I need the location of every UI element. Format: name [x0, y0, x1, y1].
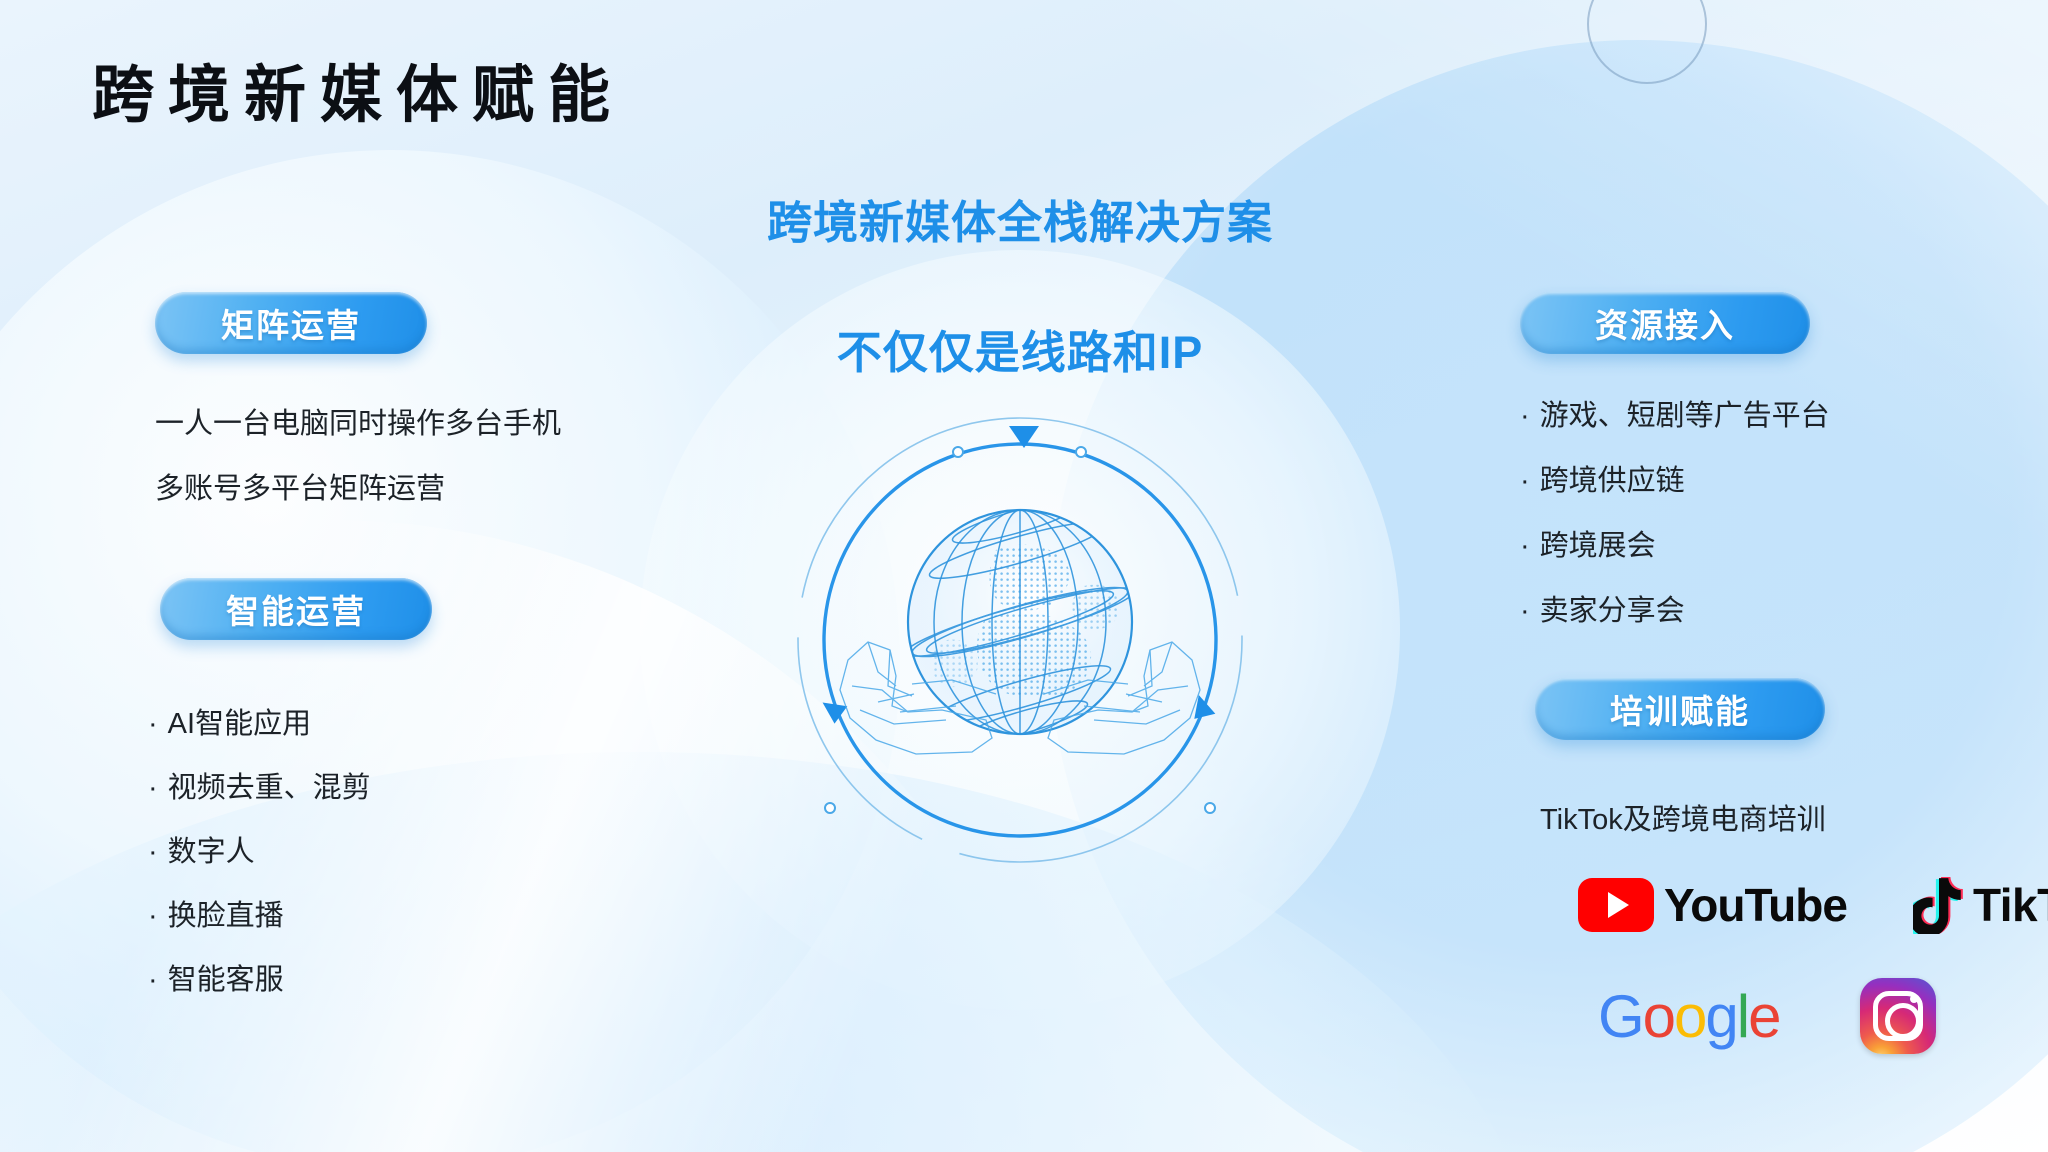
- bullet-dot: ·: [1520, 530, 1530, 563]
- youtube-logo[interactable]: YouTube: [1578, 878, 1847, 932]
- list-item: ·卖家分享会: [1520, 587, 1685, 629]
- bullet-dot: ·: [148, 900, 158, 933]
- tiktok-wordmark: TikTok: [1973, 878, 2048, 932]
- list-item-label: 游戏、短剧等广告平台: [1540, 400, 1830, 432]
- google-letter-o1: o: [1643, 983, 1674, 1050]
- list-item: ·跨境展会: [1520, 522, 1656, 564]
- list-item-label: 卖家分享会: [1540, 595, 1685, 627]
- center-heading-secondary: 不仅仅是线路和IP: [620, 316, 1420, 381]
- list-item: ·视频去重、混剪: [148, 764, 371, 806]
- list-item: ·换脸直播: [148, 892, 284, 934]
- list-item-label: 换脸直播: [168, 900, 284, 932]
- google-letter-g2: g: [1705, 983, 1736, 1050]
- youtube-play-icon: [1578, 878, 1654, 932]
- logo-row-secondary: Google: [1598, 978, 1936, 1054]
- page-title: 跨境新媒体赋能: [92, 44, 624, 134]
- google-logo[interactable]: Google: [1598, 982, 1780, 1051]
- instagram-logo[interactable]: [1860, 978, 1936, 1054]
- youtube-wordmark: YouTube: [1664, 878, 1847, 932]
- pill-training-empowerment[interactable]: 培训赋能: [1535, 678, 1825, 740]
- list-item-label: 数字人: [168, 836, 255, 868]
- pill-label: 智能运营: [226, 585, 366, 633]
- pill-label: 培训赋能: [1610, 685, 1750, 733]
- list-item-label: AI智能应用: [168, 708, 311, 740]
- google-letter-o2: o: [1674, 983, 1705, 1050]
- bullet-dot: ·: [1520, 465, 1530, 498]
- bullet-dot: ·: [148, 772, 158, 805]
- globe-svg: [790, 410, 1250, 870]
- google-letter-g1: G: [1598, 983, 1643, 1050]
- list-item-label: 智能客服: [168, 964, 284, 996]
- pill-smart-operations[interactable]: 智能运营: [160, 578, 432, 640]
- decorative-circle-outline: [1587, 0, 1707, 84]
- list-item-label: 跨境展会: [1540, 530, 1656, 562]
- pill-label: 矩阵运营: [221, 299, 361, 347]
- tiktok-note-icon: [1913, 876, 1965, 934]
- list-item: ·数字人: [148, 828, 255, 870]
- right-text-line-1: TikTok及跨境电商培训: [1540, 796, 1826, 838]
- left-text-line-2: 多账号多平台矩阵运营: [155, 465, 445, 507]
- globe-in-hands-illustration: [790, 410, 1250, 870]
- tiktok-logo[interactable]: TikTok: [1913, 876, 2048, 934]
- background-blob-left: [0, 150, 900, 1152]
- left-text-line-1: 一人一台电脑同时操作多台手机: [155, 400, 561, 442]
- list-item: ·游戏、短剧等广告平台: [1520, 392, 1830, 434]
- bullet-dot: ·: [148, 836, 158, 869]
- instagram-flash-dot: [1910, 995, 1918, 1003]
- list-item-label: 视频去重、混剪: [168, 772, 371, 804]
- pill-matrix-operations[interactable]: 矩阵运营: [155, 292, 427, 354]
- list-item: ·智能客服: [148, 956, 284, 998]
- bullet-dot: ·: [148, 964, 158, 997]
- bullet-dot: ·: [1520, 595, 1530, 628]
- list-item: ·跨境供应链: [1520, 457, 1685, 499]
- logo-row-primary: YouTube TikTok: [1578, 876, 2048, 934]
- background-blob-bottom: [0, 752, 1540, 1152]
- list-item: ·AI智能应用: [148, 700, 311, 742]
- list-item-label: 跨境供应链: [1540, 465, 1685, 497]
- slide-root: 跨境新媒体赋能 跨境新媒体全栈解决方案 不仅仅是线路和IP 矩阵运营 一人一台电…: [0, 0, 2048, 1152]
- google-letter-l: l: [1737, 983, 1748, 1050]
- google-letter-e: e: [1748, 983, 1779, 1050]
- bullet-dot: ·: [1520, 400, 1530, 433]
- bullet-dot: ·: [148, 708, 158, 741]
- pill-resource-access[interactable]: 资源接入: [1520, 292, 1810, 354]
- pill-label: 资源接入: [1595, 299, 1735, 347]
- center-heading-primary: 跨境新媒体全栈解决方案: [620, 186, 1420, 251]
